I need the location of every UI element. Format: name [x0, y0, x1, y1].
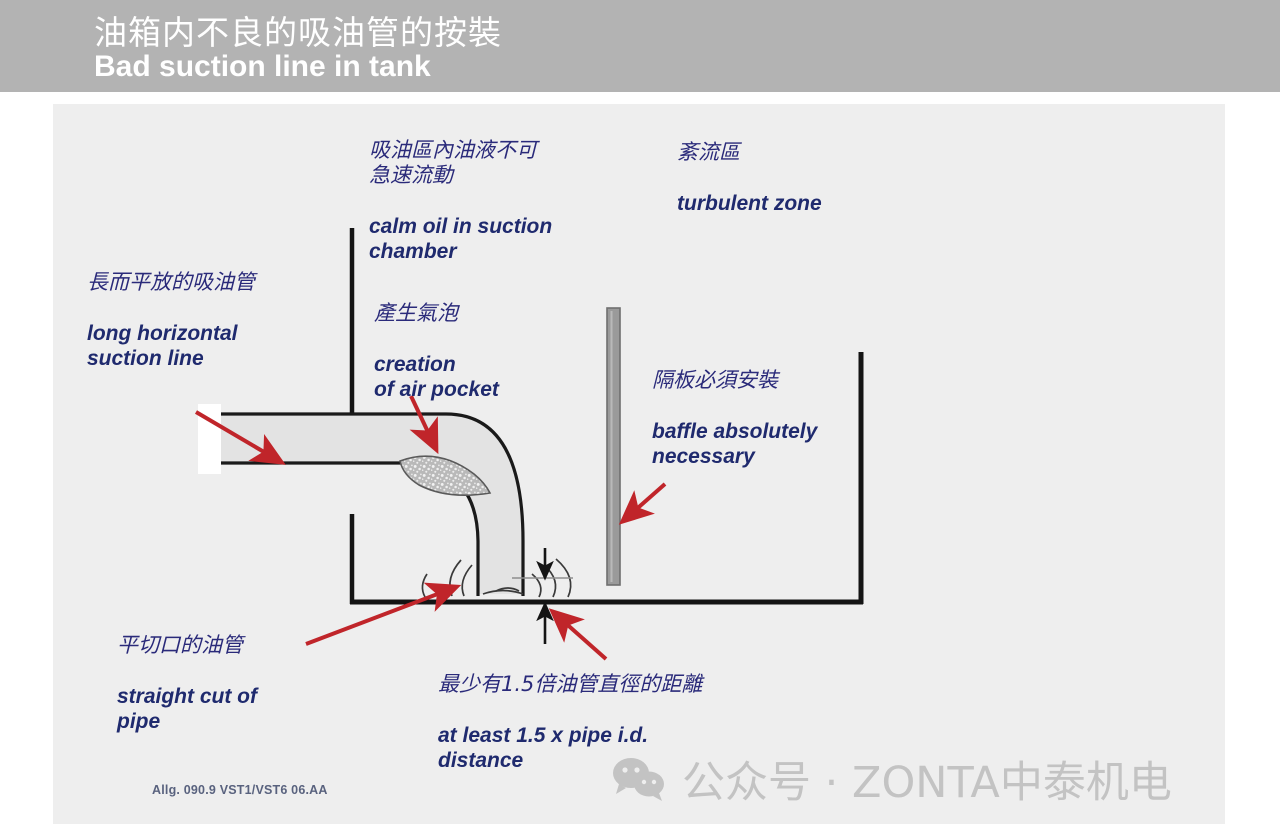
annotation-baffle-en: baffle absolutely necessary: [652, 419, 817, 469]
annotation-turbulent-zone: 紊流區 turbulent zone: [677, 115, 822, 241]
watermark: 公众号 · ZONTA中泰机电: [612, 748, 1172, 810]
baffle-plate: [607, 308, 620, 585]
annotation-straight-cut-en: straight cut of pipe: [117, 684, 257, 734]
annotation-distance-cn: 最少有1.5倍油管直徑的距離: [438, 672, 702, 697]
annotation-turbulent-zone-en: turbulent zone: [677, 191, 822, 216]
wechat-icon: [612, 757, 666, 801]
annotation-air-pocket-cn: 產生氣泡: [374, 301, 499, 326]
diagram-canvas: 長而平放的吸油管 long horizontal suction line 吸油…: [53, 104, 1225, 824]
annotation-suction-line-cn: 長而平放的吸油管: [87, 270, 255, 295]
annotation-turbulent-zone-cn: 紊流區: [677, 140, 822, 165]
annotation-suction-line-en: long horizontal suction line: [87, 321, 255, 371]
callout-arrow-straight-cut: [306, 587, 456, 644]
annotation-air-pocket: 產生氣泡 creation of air pocket: [374, 276, 499, 427]
page-title-cn: 油箱内不良的吸油管的按裝: [94, 6, 502, 54]
annotation-calm-oil: 吸油區內油液不可 急速流動 calm oil in suction chambe…: [369, 113, 552, 289]
annotation-calm-oil-cn: 吸油區內油液不可 急速流動: [369, 138, 552, 188]
annotation-straight-cut-cn: 平切口的油管: [117, 633, 257, 658]
annotation-baffle-cn: 隔板必須安裝: [652, 368, 817, 393]
drawing-reference-code: Allg. 090.9 VST1/VST6 06.AA: [152, 783, 328, 797]
annotation-suction-line: 長而平放的吸油管 long horizontal suction line: [87, 245, 255, 396]
annotation-air-pocket-en: creation of air pocket: [374, 352, 499, 402]
annotation-straight-cut: 平切口的油管 straight cut of pipe: [117, 608, 257, 759]
pipe-fill-body: [203, 414, 523, 594]
annotation-calm-oil-en: calm oil in suction chamber: [369, 214, 552, 264]
annotation-baffle: 隔板必須安裝 baffle absolutely necessary: [652, 343, 817, 494]
watermark-text: 公众号 · ZONTA中泰机电: [682, 748, 1172, 810]
page-title-en: Bad suction line in tank: [94, 50, 431, 84]
